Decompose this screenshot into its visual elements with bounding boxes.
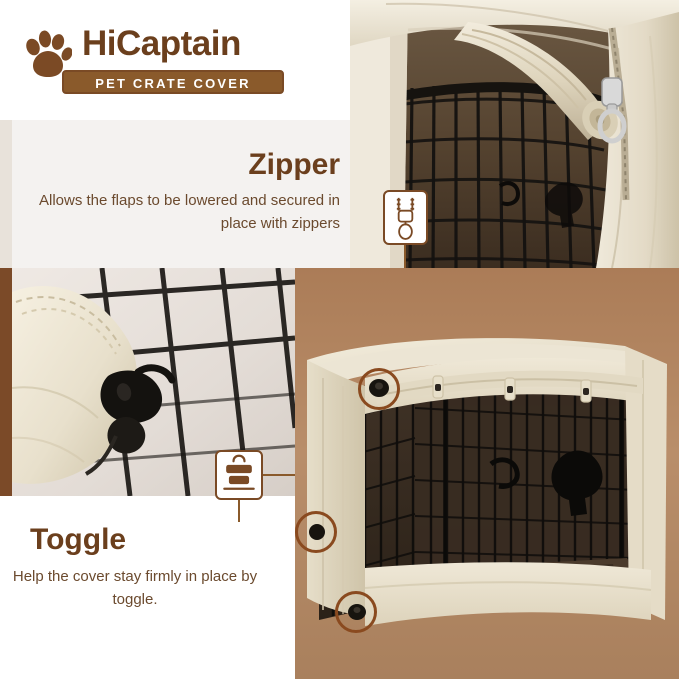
toggle-feature-description: Help the cover stay firmly in place by t…: [10, 566, 260, 611]
highlight-circle-toggle-bottom: [335, 591, 377, 633]
zipper-feature-title: Zipper: [0, 148, 340, 182]
brand-name: HiCaptain: [82, 24, 241, 64]
zipper-pull-icon-badge: [383, 190, 428, 245]
brand-logo: HiCaptain PET CRATE COVER: [24, 24, 289, 96]
zipper-feature-description: Allows the flaps to be lowered and secur…: [30, 190, 340, 235]
brand-subtitle: PET CRATE COVER: [62, 70, 284, 94]
zipper-pull-icon: [385, 192, 426, 243]
highlight-circle-zipper: [358, 368, 400, 410]
photo-main-product: [295, 268, 679, 679]
toggle-feature-title: Toggle: [30, 523, 270, 557]
infographic-page: HiCaptain PET CRATE COVER: [0, 0, 679, 679]
toggle-clip-icon: [217, 452, 261, 498]
left-accent-stripe: [0, 120, 12, 268]
toggle-clip-icon-badge: [215, 450, 263, 500]
toggle-photo-left-strip: [0, 268, 12, 496]
highlight-circle-toggle-middle: [295, 511, 337, 553]
toggle-connector-vertical: [238, 500, 240, 522]
